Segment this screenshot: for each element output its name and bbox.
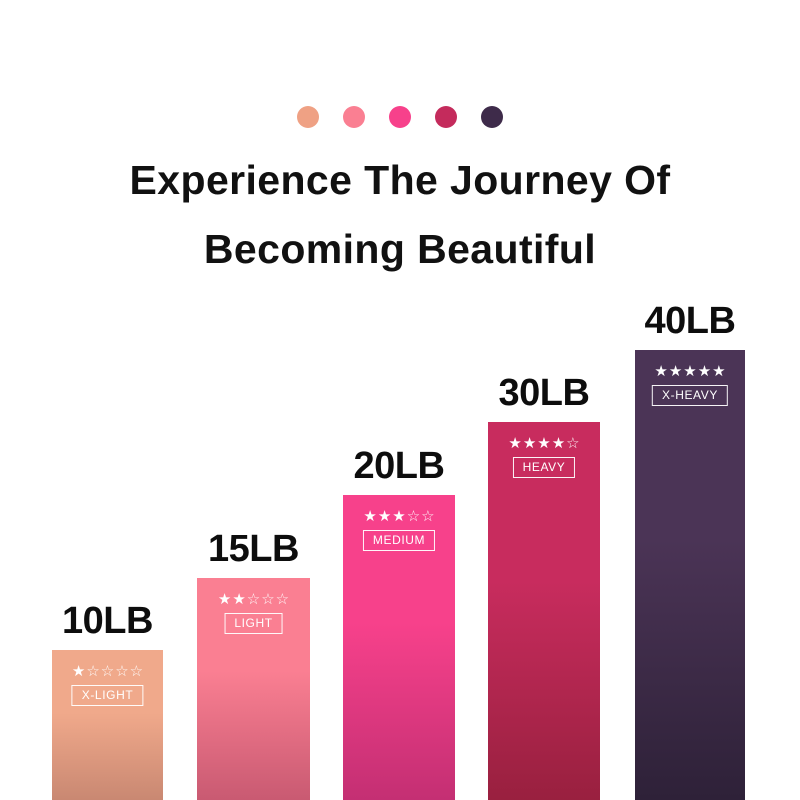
- star-filled-icon: ★: [683, 364, 696, 379]
- star-filled-icon: ★: [669, 364, 682, 379]
- star-filled-icon: ★: [218, 592, 231, 607]
- star-outline-icon: ☆: [566, 436, 579, 451]
- star-filled-icon: ★: [72, 664, 85, 679]
- star-filled-icon: ★: [378, 509, 391, 524]
- bar-column[interactable]: ★★★★☆HEAVY: [488, 422, 600, 800]
- star-filled-icon: ★: [537, 436, 550, 451]
- resistance-level-badge: HEAVY: [513, 457, 576, 478]
- bar-chart: 10LB★☆☆☆☆X-LIGHT15LB★★☆☆☆LIGHT20LB★★★☆☆M…: [0, 0, 800, 800]
- star-filled-icon: ★: [392, 509, 405, 524]
- bar-badge: ★★☆☆☆LIGHT: [206, 592, 301, 634]
- bar-column[interactable]: ★★★★★X-HEAVY: [635, 350, 745, 800]
- star-filled-icon: ★: [654, 364, 667, 379]
- bar-badge: ★★★★★X-HEAVY: [644, 364, 736, 406]
- star-rating: ★★★★☆: [508, 436, 579, 451]
- star-outline-icon: ☆: [101, 664, 114, 679]
- bar-column[interactable]: ★★☆☆☆LIGHT: [197, 578, 310, 800]
- bar-group-15lb[interactable]: 15LB★★☆☆☆LIGHT: [197, 522, 310, 800]
- bar-badge: ★★★★☆HEAVY: [497, 436, 591, 478]
- bar-badge: ★★★☆☆MEDIUM: [352, 509, 446, 551]
- star-filled-icon: ★: [712, 364, 725, 379]
- resistance-band-infographic: Experience The Journey Of Becoming Beaut…: [0, 0, 800, 800]
- resistance-level-badge: X-HEAVY: [652, 385, 728, 406]
- star-rating: ★★★☆☆: [363, 509, 434, 524]
- bar-badge: ★☆☆☆☆X-LIGHT: [61, 664, 154, 706]
- star-filled-icon: ★: [523, 436, 536, 451]
- star-outline-icon: ☆: [115, 664, 128, 679]
- star-outline-icon: ☆: [247, 592, 260, 607]
- star-filled-icon: ★: [363, 509, 376, 524]
- bar-weight-label: 30LB: [499, 374, 590, 412]
- star-outline-icon: ☆: [86, 664, 99, 679]
- bar-column[interactable]: ★★★☆☆MEDIUM: [343, 495, 455, 800]
- bar-weight-label: 40LB: [645, 302, 736, 340]
- star-filled-icon: ★: [508, 436, 521, 451]
- star-rating: ★☆☆☆☆: [72, 664, 143, 679]
- resistance-level-badge: X-LIGHT: [72, 685, 144, 706]
- resistance-level-badge: LIGHT: [224, 613, 282, 634]
- star-outline-icon: ☆: [276, 592, 289, 607]
- star-filled-icon: ★: [232, 592, 245, 607]
- bar-group-30lb[interactable]: 30LB★★★★☆HEAVY: [488, 366, 600, 800]
- star-filled-icon: ★: [552, 436, 565, 451]
- star-outline-icon: ☆: [407, 509, 420, 524]
- star-filled-icon: ★: [698, 364, 711, 379]
- bar-group-20lb[interactable]: 20LB★★★☆☆MEDIUM: [343, 439, 455, 800]
- resistance-level-badge: MEDIUM: [363, 530, 435, 551]
- star-outline-icon: ☆: [261, 592, 274, 607]
- star-outline-icon: ☆: [421, 509, 434, 524]
- bar-weight-label: 10LB: [62, 602, 153, 640]
- bar-weight-label: 20LB: [354, 447, 445, 485]
- star-outline-icon: ☆: [130, 664, 143, 679]
- bar-column[interactable]: ★☆☆☆☆X-LIGHT: [52, 650, 163, 800]
- bar-group-40lb[interactable]: 40LB★★★★★X-HEAVY: [635, 294, 745, 800]
- bar-weight-label: 15LB: [208, 530, 299, 568]
- star-rating: ★★★★★: [654, 364, 725, 379]
- star-rating: ★★☆☆☆: [218, 592, 289, 607]
- bar-group-10lb[interactable]: 10LB★☆☆☆☆X-LIGHT: [52, 594, 163, 800]
